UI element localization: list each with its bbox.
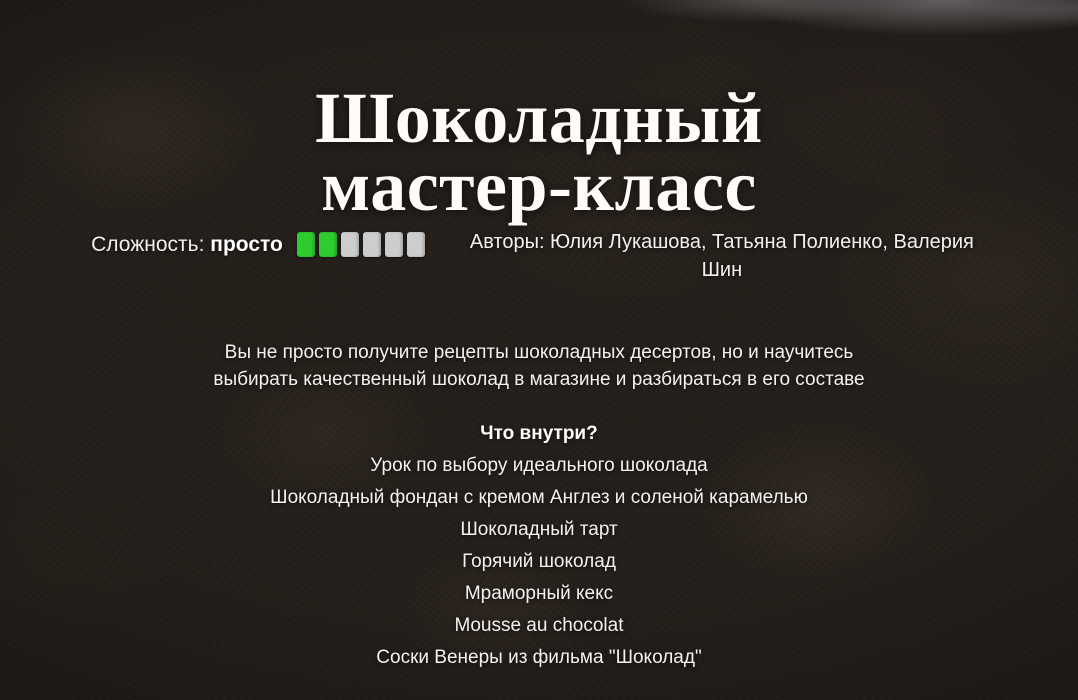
list-item: Mousse au chocolat	[0, 610, 1078, 642]
page-title-line-1: Шоколадный	[0, 84, 1078, 152]
inside-heading: Что внутри?	[0, 418, 1078, 450]
chocolate-masterclass-poster: Шоколадный мастер-класс Сложность: прост…	[0, 0, 1078, 700]
list-item: Шоколадный тарт	[0, 514, 1078, 546]
meta-row: Сложность: просто Авторы: Юлия Лукашова,…	[0, 228, 1078, 284]
difficulty-bar-3	[341, 232, 359, 257]
list-item: Соски Венеры из фильма "Шоколад"	[0, 642, 1078, 674]
difficulty-bar-1	[297, 232, 315, 257]
page-title: Шоколадный мастер-класс	[0, 84, 1078, 220]
inside-section: Что внутри? Урок по выбору идеального шо…	[0, 418, 1078, 674]
difficulty-label-text: Сложность:	[91, 233, 204, 256]
list-item: Урок по выбору идеального шоколада	[0, 450, 1078, 482]
difficulty-bar-4	[363, 232, 381, 257]
list-item: Горячий шоколад	[0, 546, 1078, 578]
lead-line-2: выбирать качественный шоколад в магазине…	[0, 366, 1078, 393]
lead-line-1: Вы не просто получите рецепты шоколадных…	[0, 339, 1078, 366]
difficulty-label: Сложность: просто	[91, 233, 283, 257]
poster-content: Шоколадный мастер-класс Сложность: прост…	[0, 0, 1078, 700]
difficulty-indicator: Сложность: просто	[91, 228, 425, 257]
list-item: Шоколадный фондан с кремом Англез и соле…	[0, 482, 1078, 514]
difficulty-bar-6	[407, 232, 425, 257]
list-item: Мраморный кекс	[0, 578, 1078, 610]
authors-line-1: Авторы: Юлия Лукашова, Татьяна Полиенко,	[470, 231, 888, 253]
page-title-line-2: мастер-класс	[0, 152, 1078, 220]
authors-block: Авторы: Юлия Лукашова, Татьяна Полиенко,…	[457, 228, 987, 284]
difficulty-bars	[297, 232, 425, 257]
difficulty-value: просто	[210, 233, 283, 256]
inside-list: Урок по выбору идеального шоколада Шокол…	[0, 450, 1078, 674]
lead-paragraph: Вы не просто получите рецепты шоколадных…	[0, 339, 1078, 393]
difficulty-bar-5	[385, 232, 403, 257]
difficulty-bar-2	[319, 232, 337, 257]
